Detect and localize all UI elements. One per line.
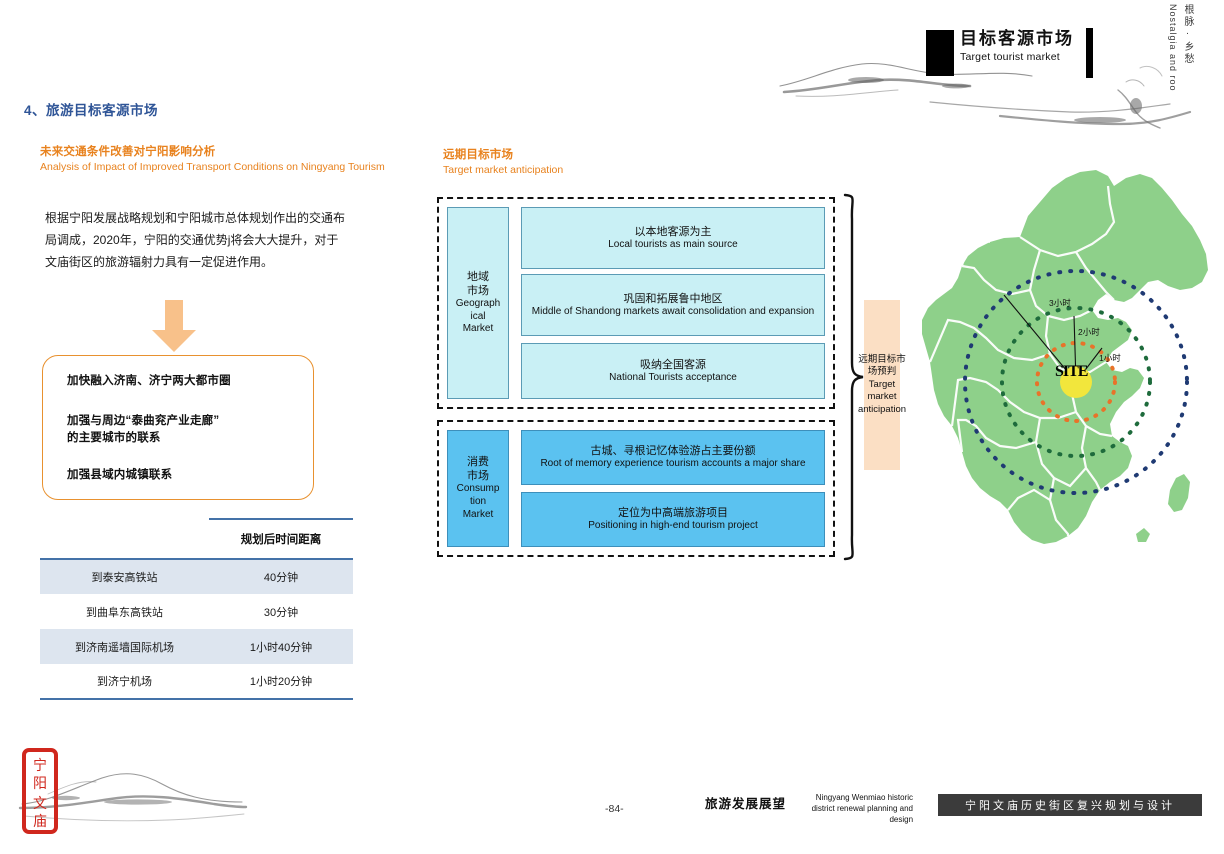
item-cn: 以本地客源为主 bbox=[608, 225, 738, 239]
table-header-row: 规划后时间距离 bbox=[40, 519, 353, 559]
item-cn: 吸纳全国客源 bbox=[609, 358, 737, 372]
cat-cn-1: 消费 bbox=[457, 455, 500, 469]
vertical-slogan-en: Nostalgia and roo bbox=[1168, 4, 1178, 124]
item-cn: 古城、寻根记忆体验游占主要份额 bbox=[540, 444, 805, 458]
svg-text:庙: 庙 bbox=[33, 814, 47, 830]
header-title-en: Target tourist market bbox=[960, 51, 1090, 63]
item-cn: 定位为中高端旅游项目 bbox=[588, 506, 758, 520]
table-row: 到济南遥墙国际机场 1小时40分钟 bbox=[40, 629, 353, 664]
item-en: National Tourists acceptance bbox=[609, 372, 737, 385]
highlight-line-2b: 的主要城市的联系 bbox=[67, 430, 219, 447]
cat-en-1: Geograph bbox=[456, 298, 500, 311]
item-cn: 巩固和拓展鲁中地区 bbox=[532, 292, 814, 306]
highlight-line-2: 加强与周边“泰曲兖产业走廊” 的主要城市的联系 bbox=[67, 413, 219, 446]
page-header: 目标客源市场 Target tourist market bbox=[770, 0, 1224, 150]
table-cell-label: 到济宁机场 bbox=[40, 664, 209, 699]
highlight-line-3: 加强县域内城镇联系 bbox=[67, 467, 172, 484]
footer-brand-en: Ningyang Wenmiao historic district renew… bbox=[793, 793, 913, 825]
left-subtitle-cn: 未来交通条件改善对宁阳影响分析 bbox=[40, 143, 400, 159]
table-cell-label: 到泰安高铁站 bbox=[40, 559, 209, 594]
seal-stamp: 宁 阳 文 庙 bbox=[22, 748, 58, 834]
svg-text:宁: 宁 bbox=[33, 757, 47, 774]
middle-subtitle-en: Target market anticipation bbox=[443, 163, 788, 177]
vertical-slogan-cn: 根脉·乡愁 bbox=[1180, 4, 1195, 124]
table-cell-value: 30分钟 bbox=[209, 594, 353, 629]
map-landmass bbox=[922, 170, 1208, 544]
cat-en-1: Consump bbox=[457, 483, 500, 496]
table-cell-value: 1小时20分钟 bbox=[209, 664, 353, 699]
table-body: 到泰安高铁站 40分钟 到曲阜东高铁站 30分钟 到济南遥墙国际机场 1小时40… bbox=[40, 559, 353, 699]
vertical-slogan: Nostalgia and roo 根脉·乡愁 bbox=[1168, 4, 1195, 124]
market-item-box: 巩固和拓展鲁中地区 Middle of Shandong markets awa… bbox=[521, 274, 825, 336]
brace-label: 远期目标市场预判Target market anticipation bbox=[864, 300, 900, 470]
header-title-group: 目标客源市场 Target tourist market bbox=[960, 28, 1090, 63]
table-cell-label: 到曲阜东高铁站 bbox=[40, 594, 209, 629]
ring-label-2hr: 2小时 bbox=[1078, 326, 1100, 338]
ring-label-1hr: 1小时 bbox=[1099, 352, 1121, 364]
cat-en-3: Market bbox=[457, 509, 500, 522]
cat-cn-1: 地域 bbox=[456, 270, 500, 284]
travel-time-table: 规划后时间距离 到泰安高铁站 40分钟 到曲阜东高铁站 30分钟 到济南遥墙国际… bbox=[40, 518, 353, 700]
footer-project-bar: 宁阳文庙历史街区复兴规划与设计 bbox=[938, 794, 1202, 816]
market-item-box: 吸纳全国客源 National Tourists acceptance bbox=[521, 343, 825, 399]
page-number: -84- bbox=[605, 803, 624, 815]
table-row: 到曲阜东高铁站 30分钟 bbox=[40, 594, 353, 629]
item-en: Local tourists as main source bbox=[608, 239, 738, 252]
ring-label-3hr: 3小时 bbox=[1049, 297, 1071, 309]
middle-column-heading: 远期目标市场 Target market anticipation bbox=[443, 146, 788, 177]
cat-en-2: ical bbox=[456, 311, 500, 324]
highlight-line-2a: 加强与周边“泰曲兖产业走廊” bbox=[67, 413, 219, 430]
highlight-line-1: 加快融入济南、济宁两大都市圈 bbox=[67, 373, 231, 390]
footer-brand-cn: 旅游发展展望 bbox=[705, 793, 786, 812]
market-item-box: 古城、寻根记忆体验游占主要份额 Root of memory experienc… bbox=[521, 430, 825, 485]
site-label: SITE bbox=[1055, 363, 1087, 381]
category-geographical-market: 地域 市场 Geograph ical Market bbox=[447, 207, 509, 399]
cat-en-3: Market bbox=[456, 323, 500, 336]
page-title: 4、旅游目标客源市场 bbox=[24, 99, 158, 119]
cat-cn-2: 市场 bbox=[456, 284, 500, 298]
china-radius-map bbox=[900, 130, 1224, 580]
table-cell-value: 1小时40分钟 bbox=[209, 629, 353, 664]
table-header-blank bbox=[40, 519, 209, 559]
table-row: 到泰安高铁站 40分钟 bbox=[40, 559, 353, 594]
arrow-down-icon bbox=[152, 300, 196, 352]
table-cell-value: 40分钟 bbox=[209, 559, 353, 594]
footer-brand: 旅游发展展望 Ningyang Wenmiao historic distric… bbox=[705, 793, 913, 825]
item-en: Positioning in high-end tourism project bbox=[588, 520, 758, 533]
cat-cn-2: 市场 bbox=[457, 469, 500, 483]
table-header-value: 规划后时间距离 bbox=[209, 519, 353, 559]
middle-subtitle-cn: 远期目标市场 bbox=[443, 146, 788, 162]
item-en: Root of memory experience tourism accoun… bbox=[540, 458, 805, 471]
left-column-heading: 未来交通条件改善对宁阳影响分析 Analysis of Impact of Im… bbox=[40, 143, 400, 174]
header-black-bar-left bbox=[926, 30, 954, 76]
header-title-cn: 目标客源市场 bbox=[960, 28, 1090, 49]
highlight-box: 加快融入济南、济宁两大都市圈 加强与周边“泰曲兖产业走廊” 的主要城市的联系 加… bbox=[42, 355, 314, 500]
intro-paragraph: 根据宁阳发展战略规划和宁阳城市总体规划作出的交通布局调成，2020年，宁阳的交通… bbox=[45, 207, 345, 274]
table-row: 到济宁机场 1小时20分钟 bbox=[40, 664, 353, 699]
market-item-box: 定位为中高端旅游项目 Positioning in high-end touri… bbox=[521, 492, 825, 547]
market-item-box: 以本地客源为主 Local tourists as main source bbox=[521, 207, 825, 269]
cat-en-2: tion bbox=[457, 496, 500, 509]
left-subtitle-en: Analysis of Impact of Improved Transport… bbox=[40, 160, 385, 174]
footer-project-text: 宁阳文庙历史街区复兴规划与设计 bbox=[965, 797, 1175, 813]
table-cell-label: 到济南遥墙国际机场 bbox=[40, 629, 209, 664]
svg-text:文: 文 bbox=[33, 796, 47, 812]
item-en: Middle of Shandong markets await consoli… bbox=[532, 306, 814, 319]
category-consumption-market: 消费 市场 Consump tion Market bbox=[447, 430, 509, 547]
svg-text:阳: 阳 bbox=[33, 776, 47, 792]
